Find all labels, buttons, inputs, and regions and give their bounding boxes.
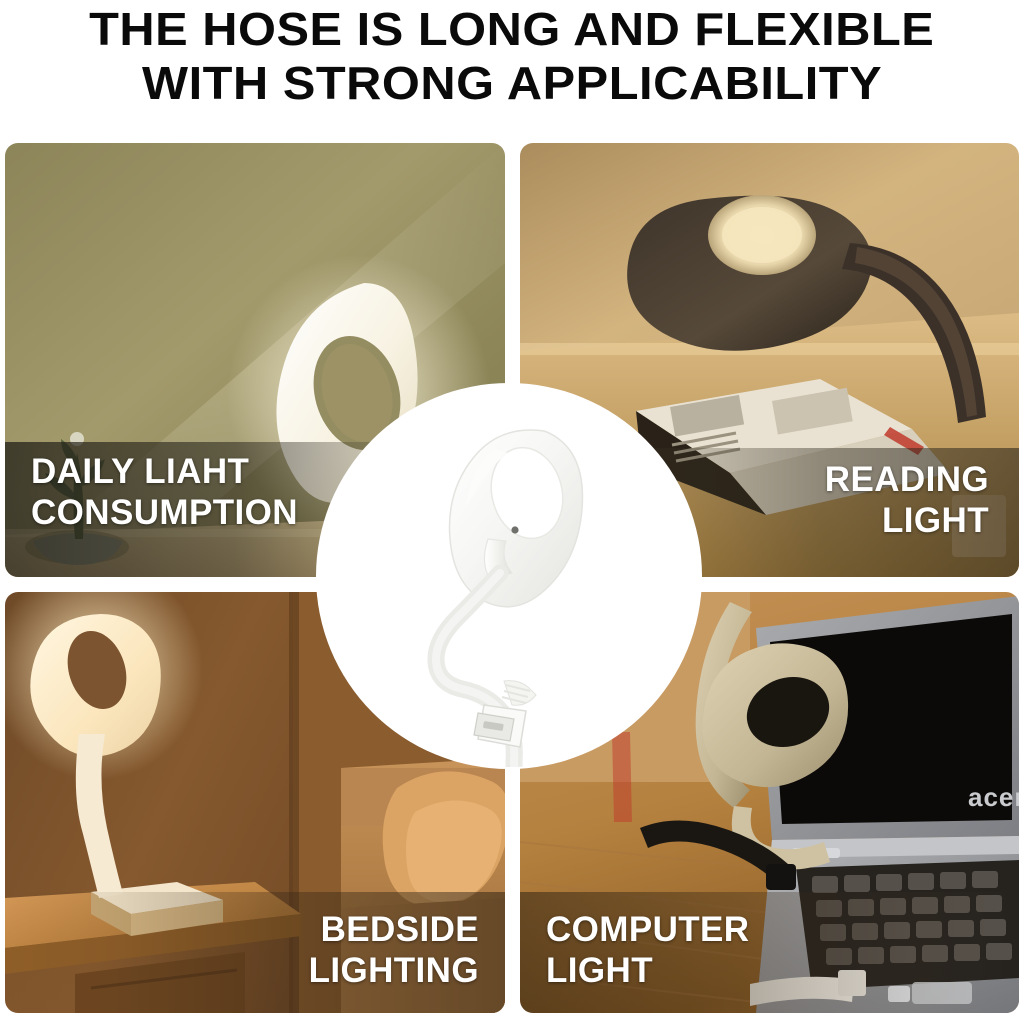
bed-blanket [341,898,505,1013]
bed-with-pillow [341,758,505,1013]
product-feature-image: THE HOSE IS LONG AND FLEXIBLE WITH STRON… [0,0,1024,1024]
laptop-sticker [888,986,910,1002]
wall-corner-shadow [289,592,299,1013]
wall-socket [952,495,1006,557]
laptop-brand-label: acer [968,782,1019,812]
power-button-icon [511,526,518,533]
page-title: THE HOSE IS LONG AND FLEXIBLE WITH STRON… [0,0,1024,128]
product-illustration [318,385,700,767]
product-hero-circle[interactable] [318,385,700,767]
cable-plug [766,864,796,890]
trackpad [912,982,972,1004]
headline-line-2: WITH STRONG APPLICABILITY [142,56,882,110]
background-object [612,732,632,822]
headline-line-1: THE HOSE IS LONG AND FLEXIBLE [89,2,934,56]
